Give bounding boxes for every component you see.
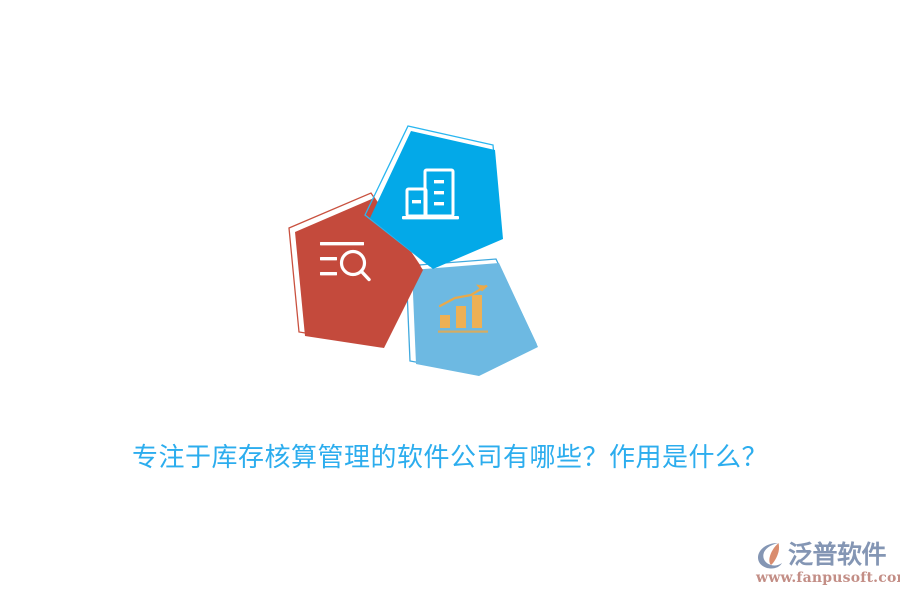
pentagon-growth-chart	[406, 259, 538, 376]
fanpu-logo-icon	[756, 540, 786, 570]
brand-url: www.fanpusoft.com	[756, 570, 892, 586]
logo-flame	[769, 543, 779, 565]
pentagon-cluster-graphic	[280, 118, 550, 388]
page-title: 专注于库存核算管理的软件公司有哪些？作用是什么？	[0, 438, 900, 478]
brand-name: 泛普软件	[788, 540, 886, 570]
chart-bar-2	[456, 306, 466, 328]
brand-watermark: 泛普软件 www.fanpusoft.com	[756, 538, 892, 594]
tower-window-3	[434, 202, 444, 205]
tower-window-1	[434, 180, 444, 183]
annex-window-1	[412, 200, 421, 203]
chart-bar-1	[440, 315, 450, 328]
doc-line-top	[320, 242, 364, 245]
building-base	[402, 216, 459, 219]
page-root: 专注于库存核算管理的软件公司有哪些？作用是什么？ 泛普软件 www.fanpus…	[0, 0, 900, 600]
brand-row: 泛普软件	[756, 538, 892, 572]
doc-line-1	[320, 257, 337, 260]
tower-window-2	[434, 191, 444, 194]
chart-bar-3	[472, 295, 482, 328]
doc-line-2	[320, 272, 337, 275]
